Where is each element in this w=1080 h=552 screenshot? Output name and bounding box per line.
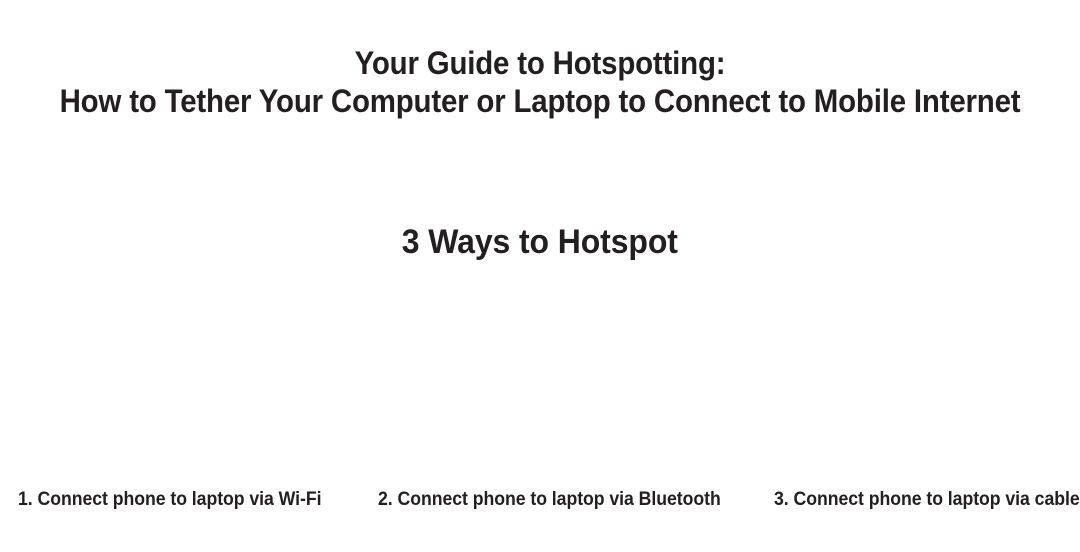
section-heading: 3 Ways to Hotspot xyxy=(0,222,1080,262)
section-heading-text: 3 Ways to Hotspot xyxy=(402,222,678,262)
infographic-page: Your Guide to Hotspotting: How to Tether… xyxy=(0,0,1080,552)
page-title-line-1: Your Guide to Hotspotting: xyxy=(43,44,1037,82)
page-title: Your Guide to Hotspotting: How to Tether… xyxy=(0,44,1080,120)
method-caption-cable: 3. Connect phone to laptop via cable xyxy=(774,488,1080,512)
caption-row: 1. Connect phone to laptop via Wi-Fi 2. … xyxy=(0,488,1080,518)
method-caption-wifi: 1. Connect phone to laptop via Wi-Fi xyxy=(18,488,321,512)
page-title-line-2: How to Tether Your Computer or Laptop to… xyxy=(43,82,1037,120)
illustration-slot-bluetooth xyxy=(375,288,705,476)
method-caption-bluetooth: 2. Connect phone to laptop via Bluetooth xyxy=(378,488,721,512)
illustration-slot-cable xyxy=(750,288,1080,476)
illustration-slot-wifi xyxy=(0,288,330,476)
illustration-row xyxy=(0,288,1080,476)
